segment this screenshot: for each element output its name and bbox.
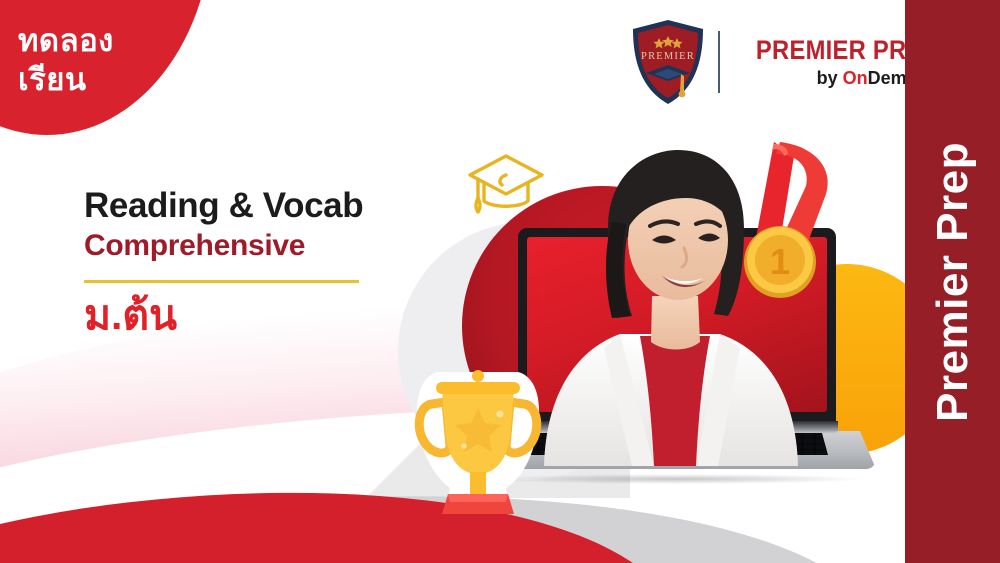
byline-prefix: by	[817, 68, 843, 88]
course-level: ม.ต้น	[84, 293, 504, 338]
brand-sidebar: Premier Prep	[905, 0, 1000, 563]
course-banner: 1 ทดลอง เรียน Reading & Vocab Comprehens…	[0, 0, 1000, 563]
headline-divider	[84, 280, 359, 283]
sidebar-label: Premier Prep	[928, 142, 978, 422]
trial-badge-line1: ทดลอง	[18, 23, 114, 58]
medal-number: 1	[770, 241, 790, 282]
trophy-icon	[402, 352, 554, 530]
brand-logo: PREMIER PREMIER PREP by OnDemand	[629, 18, 939, 106]
gold-medal-icon: 1	[722, 142, 840, 302]
trial-badge-line2: เรียน	[18, 61, 198, 100]
byline-accent: On	[843, 68, 868, 88]
trial-badge-text: ทดลอง เรียน	[18, 22, 198, 100]
headline-block: Reading & Vocab Comprehensive ม.ต้น	[84, 186, 504, 338]
premier-shield-icon: PREMIER	[629, 18, 707, 106]
course-subtitle: Comprehensive	[84, 227, 504, 265]
course-title: Reading & Vocab	[84, 186, 504, 225]
logo-divider	[718, 31, 720, 93]
shield-wordmark: PREMIER	[641, 51, 695, 62]
